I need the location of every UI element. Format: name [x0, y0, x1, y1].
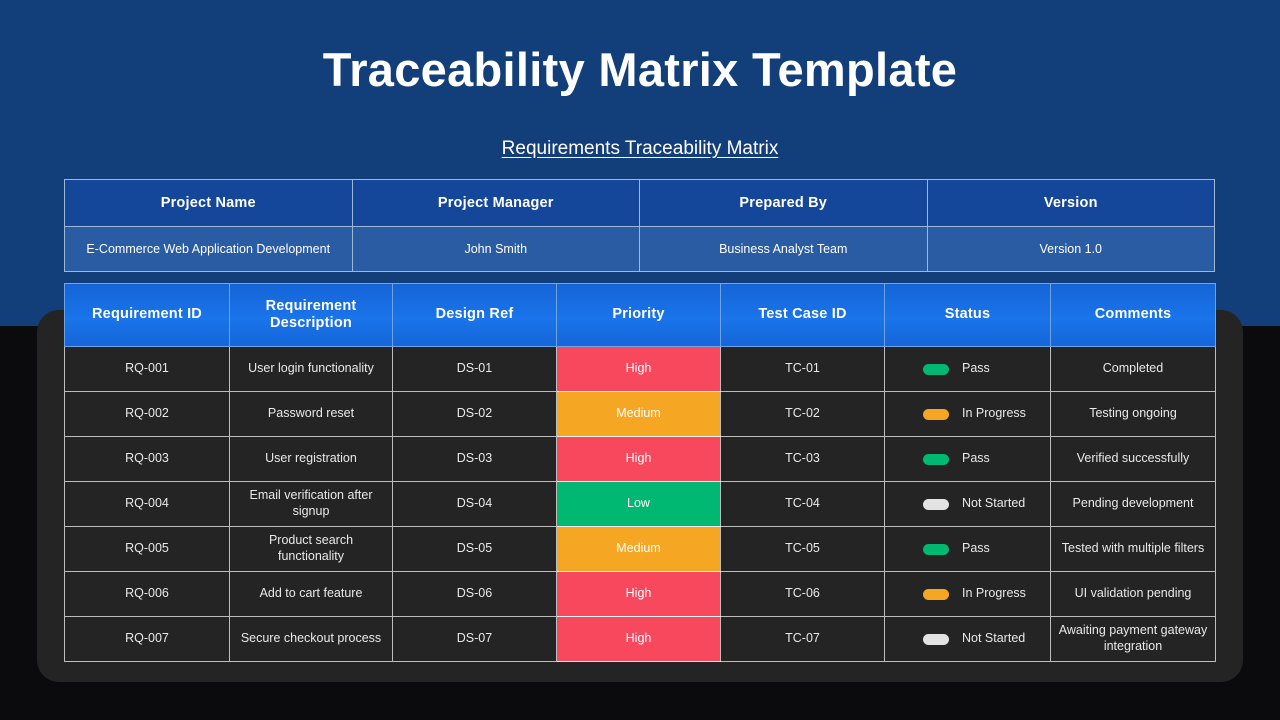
cell-requirement-id: RQ-005 [65, 527, 230, 572]
cell-requirement-description: Secure checkout process [230, 617, 393, 662]
cell-status: In Progress [885, 392, 1051, 437]
cell-requirement-id: RQ-003 [65, 437, 230, 482]
status-indicator-icon [923, 634, 949, 645]
info-value-project-manager: John Smith [352, 227, 640, 272]
status-indicator-icon [923, 499, 949, 510]
matrix-header-comments[interactable]: Comments [1051, 284, 1216, 347]
cell-comments: Tested with multiple filters [1051, 527, 1216, 572]
cell-requirement-description: Email verification after signup [230, 482, 393, 527]
cell-test-case-id: TC-06 [721, 572, 885, 617]
cell-priority: Low [557, 482, 721, 527]
cell-requirement-id: RQ-001 [65, 347, 230, 392]
status-indicator-icon [923, 364, 949, 375]
slide-canvas: Traceability Matrix Template Requirement… [0, 0, 1280, 720]
cell-status: Not Started [885, 482, 1051, 527]
info-value-prepared-by: Business Analyst Team [640, 227, 928, 272]
status-badge: In Progress [962, 406, 1026, 422]
page-subtitle-text: Requirements Traceability Matrix [502, 138, 779, 159]
cell-priority: High [557, 617, 721, 662]
cell-requirement-description: User login functionality [230, 347, 393, 392]
cell-priority: High [557, 572, 721, 617]
status-indicator-icon [923, 589, 949, 600]
table-row[interactable]: RQ-005Product search functionalityDS-05M… [65, 527, 1216, 572]
page-subtitle: Requirements Traceability Matrix [0, 138, 1280, 160]
status-badge: Not Started [962, 631, 1025, 647]
cell-comments: Verified successfully [1051, 437, 1216, 482]
matrix-header-requirement-id[interactable]: Requirement ID [65, 284, 230, 347]
traceability-matrix-table: Requirement ID Requirement Description D… [64, 283, 1216, 662]
cell-requirement-description: Password reset [230, 392, 393, 437]
info-value-version: Version 1.0 [927, 227, 1215, 272]
status-badge: Not Started [962, 496, 1025, 512]
table-row[interactable]: RQ-007Secure checkout processDS-07HighTC… [65, 617, 1216, 662]
info-header-project-manager: Project Manager [352, 180, 640, 227]
table-row[interactable]: RQ-004Email verification after signupDS-… [65, 482, 1216, 527]
cell-requirement-description: Add to cart feature [230, 572, 393, 617]
matrix-header-row: Requirement ID Requirement Description D… [65, 284, 1216, 347]
matrix-header-priority[interactable]: Priority [557, 284, 721, 347]
cell-test-case-id: TC-01 [721, 347, 885, 392]
cell-comments: UI validation pending [1051, 572, 1216, 617]
cell-requirement-id: RQ-004 [65, 482, 230, 527]
info-value-row: E-Commerce Web Application Development J… [65, 227, 1215, 272]
cell-requirement-description: Product search functionality [230, 527, 393, 572]
info-header-row: Project Name Project Manager Prepared By… [65, 180, 1215, 227]
cell-requirement-id: RQ-006 [65, 572, 230, 617]
cell-comments: Testing ongoing [1051, 392, 1216, 437]
cell-test-case-id: TC-02 [721, 392, 885, 437]
status-badge: Pass [962, 451, 990, 467]
project-info-table: Project Name Project Manager Prepared By… [64, 179, 1215, 272]
cell-status: Pass [885, 347, 1051, 392]
status-indicator-icon [923, 544, 949, 555]
page-title: Traceability Matrix Template [0, 42, 1280, 97]
matrix-header-design-ref[interactable]: Design Ref [393, 284, 557, 347]
cell-comments: Awaiting payment gateway integration [1051, 617, 1216, 662]
cell-design-ref: DS-04 [393, 482, 557, 527]
status-indicator-icon [923, 454, 949, 465]
cell-design-ref: DS-01 [393, 347, 557, 392]
cell-design-ref: DS-07 [393, 617, 557, 662]
matrix-header-status[interactable]: Status [885, 284, 1051, 347]
cell-design-ref: DS-05 [393, 527, 557, 572]
cell-priority: High [557, 347, 721, 392]
cell-design-ref: DS-06 [393, 572, 557, 617]
cell-requirement-id: RQ-002 [65, 392, 230, 437]
matrix-header-test-case-id[interactable]: Test Case ID [721, 284, 885, 347]
cell-priority: Medium [557, 527, 721, 572]
cell-test-case-id: TC-05 [721, 527, 885, 572]
cell-status: In Progress [885, 572, 1051, 617]
cell-status: Pass [885, 527, 1051, 572]
table-row[interactable]: RQ-002Password resetDS-02MediumTC-02In P… [65, 392, 1216, 437]
status-indicator-icon [923, 409, 949, 420]
cell-comments: Pending development [1051, 482, 1216, 527]
info-header-prepared-by: Prepared By [640, 180, 928, 227]
cell-requirement-description: User registration [230, 437, 393, 482]
cell-design-ref: DS-03 [393, 437, 557, 482]
cell-design-ref: DS-02 [393, 392, 557, 437]
matrix-body: RQ-001User login functionalityDS-01HighT… [65, 347, 1216, 662]
table-row[interactable]: RQ-003User registrationDS-03HighTC-03Pas… [65, 437, 1216, 482]
cell-priority: High [557, 437, 721, 482]
cell-test-case-id: TC-04 [721, 482, 885, 527]
info-header-project-name: Project Name [65, 180, 353, 227]
cell-test-case-id: TC-03 [721, 437, 885, 482]
cell-comments: Completed [1051, 347, 1216, 392]
status-badge: Pass [962, 541, 990, 557]
cell-status: Not Started [885, 617, 1051, 662]
table-row[interactable]: RQ-006Add to cart featureDS-06HighTC-06I… [65, 572, 1216, 617]
status-badge: Pass [962, 361, 990, 377]
info-header-version: Version [927, 180, 1215, 227]
cell-priority: Medium [557, 392, 721, 437]
status-badge: In Progress [962, 586, 1026, 602]
cell-status: Pass [885, 437, 1051, 482]
table-row[interactable]: RQ-001User login functionalityDS-01HighT… [65, 347, 1216, 392]
cell-test-case-id: TC-07 [721, 617, 885, 662]
info-value-project-name: E-Commerce Web Application Development [65, 227, 353, 272]
cell-requirement-id: RQ-007 [65, 617, 230, 662]
matrix-header-requirement-description[interactable]: Requirement Description [230, 284, 393, 347]
